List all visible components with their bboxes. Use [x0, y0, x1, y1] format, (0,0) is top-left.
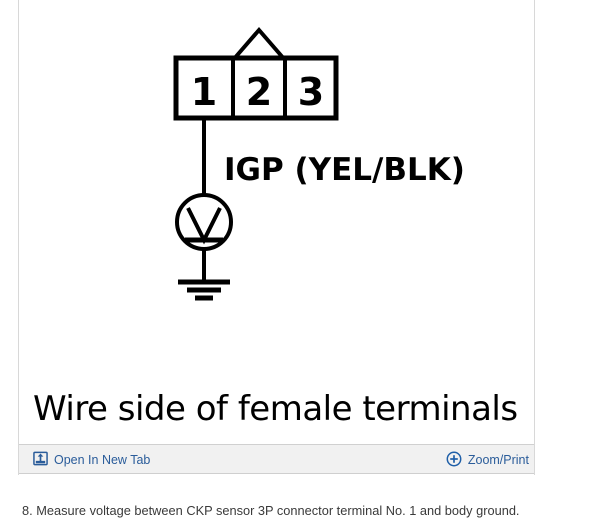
open-in-new-tab-label: Open In New Tab	[54, 454, 150, 467]
image-viewer-toolbar: Open In New Tab Zoom/Print	[19, 444, 534, 474]
diagram-caption: Wire side of female terminals	[33, 389, 518, 429]
zoom-print-label: Zoom/Print	[468, 454, 529, 467]
wiring-diagram-svg: 1 2 3 IGP (YEL/BLK) Wire side of female …	[19, 0, 534, 444]
terminal-number-3: 3	[298, 70, 324, 114]
step-instruction-text: 8. Measure voltage between CKP sensor 3P…	[22, 503, 582, 519]
terminal-number-1: 1	[191, 70, 217, 114]
open-in-new-tab-button[interactable]: Open In New Tab	[33, 445, 150, 475]
terminal-number-2: 2	[246, 70, 272, 114]
image-viewer-card: 1 2 3 IGP (YEL/BLK) Wire side of female …	[18, 0, 535, 475]
open-in-new-tab-icon	[33, 451, 48, 469]
wire-label-igp: IGP (YEL/BLK)	[224, 152, 465, 188]
wiring-diagram-image[interactable]: 1 2 3 IGP (YEL/BLK) Wire side of female …	[19, 0, 534, 444]
zoom-print-button[interactable]: Zoom/Print	[446, 445, 529, 475]
plus-circle-icon	[446, 451, 462, 470]
